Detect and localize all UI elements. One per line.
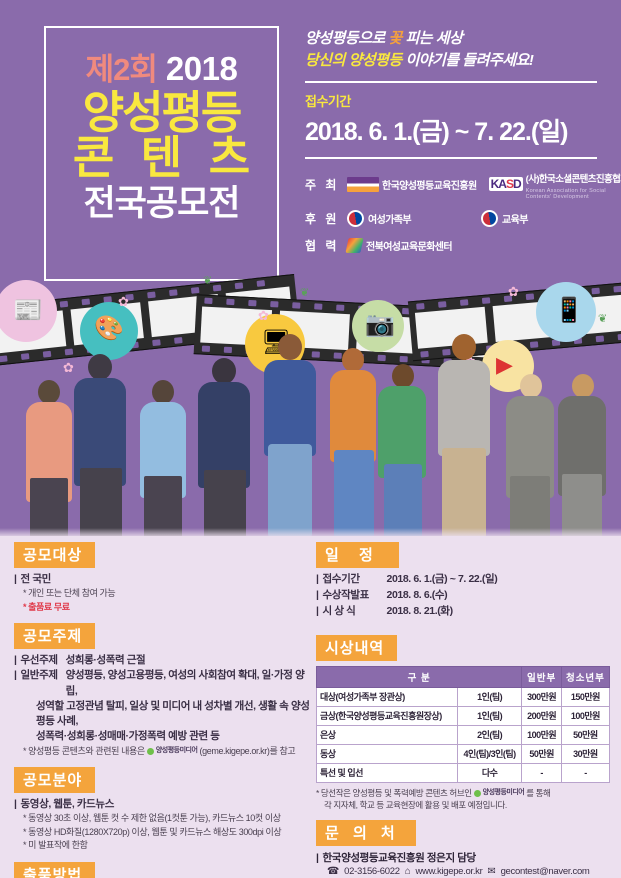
header-right-column: 양성평등으로 꽃 피는 세상 당신의 양성평등 이야기를 들려주세요! 접수기간…	[305, 28, 605, 264]
prize-youth-1: 100만원	[561, 706, 609, 725]
title-ordinal: 제2회	[86, 54, 157, 85]
prize-name-3: 동상	[317, 744, 458, 763]
prize-table: 구 분 일반부 청소년부 대상(여성가족부 장관상) 1인(팀) 300만원 1…	[316, 666, 610, 783]
bullet-bar-sch-1: |	[316, 572, 319, 587]
person-head-9	[520, 374, 542, 398]
leaf-icon-2: ❦	[300, 286, 309, 299]
right-column: 일 정 | 접수기간 2018. 6. 1.(금) ~ 7. 22.(일) | …	[316, 542, 612, 878]
organizer-item-kigepe: 한국양성평등교육진흥원	[347, 177, 477, 192]
title-box: 제2회 2018 양성평등 콘 텐 츠 전국공모전	[44, 26, 279, 281]
theme-row-general: | 일반주제 양성평등, 양성고용평등, 여성의 사회참여 확대, 일·가정 양…	[14, 668, 310, 698]
leaf-icon-3: ❦	[598, 312, 607, 325]
contact-org-1-name: 한국양성평등교육진흥원 정은지 담당	[323, 850, 476, 865]
theme-cont-2: 성폭력·성희롱·성매매·가정폭력 예방 관련 등	[14, 729, 310, 744]
section-theme: 공모주제 | 우선주제 성희롱·성폭력 근절 | 일반주제 양성평등, 양성고용…	[14, 623, 310, 758]
theme-note-prefix: 양성평등 콘텐츠와 관련된 내용은	[28, 746, 145, 756]
field-note-3: *미 발표작에 한함	[14, 839, 310, 853]
prize-general-0: 300만원	[522, 687, 561, 706]
prize-col-general: 일반부	[522, 666, 561, 687]
bullet-bar-field: |	[14, 797, 17, 812]
tagline-1a: 양성평등으로	[305, 30, 385, 47]
prize-name-0: 대상(여성가족부 장관상)	[317, 687, 458, 706]
person-head-3	[152, 380, 174, 404]
theme-value-general: 양성평등, 양성고용평등, 여성의 사회참여 확대, 일·가정 양립,	[66, 668, 310, 698]
reception-dates: 2018. 6. 1.(금) ~ 7. 22.(일)	[305, 112, 605, 148]
organizer-row-cooperation: 협 력 전북여성교육문화센터	[305, 237, 605, 254]
organizer-row-sponsor: 후 원 여성가족부 교육부	[305, 210, 605, 227]
organizer-label-cooperation: 협 력	[305, 237, 347, 254]
table-row: 은상 2인(팀) 100만원 50만원	[317, 725, 610, 744]
person-head-5	[278, 334, 302, 360]
prize-youth-3: 30만원	[561, 744, 609, 763]
schedule-row-ceremony: | 시 상 식 2018. 8. 21.(화)	[316, 604, 612, 619]
bullet-bar: |	[14, 572, 17, 587]
prize-general-2: 100만원	[522, 725, 561, 744]
newspaper-icon: 📰	[13, 299, 43, 323]
table-row: 대상(여성가족부 장관상) 1인(팀) 300만원 150만원	[317, 687, 610, 706]
field-note-2: *동영상 HD화질(1280X720p) 이상, 웹툰 및 카드뉴스 해상도 3…	[14, 826, 310, 840]
theme-row-priority: | 우선주제 성희롱·성폭력 근절	[14, 653, 310, 668]
poster-header: 제2회 2018 양성평등 콘 텐 츠 전국공모전 양성평등으로 꽃 피는 세상…	[0, 0, 621, 538]
table-row: 특선 및 입선 다수 - -	[317, 763, 610, 782]
target-note-2: *출품료 무료	[14, 601, 310, 615]
field-note-3-text: 미 발표작에 한함	[28, 840, 87, 850]
schedule-row-announcement: | 수상작발표 2018. 8. 6.(수)	[316, 588, 612, 603]
prize-youth-0: 150만원	[561, 687, 609, 706]
section-heading-submit: 출품방법	[14, 862, 95, 878]
email-icon-1: ✉	[487, 866, 495, 877]
prize-count-2: 2인(팀)	[457, 725, 522, 744]
asterisk-icon-9: *	[316, 788, 319, 798]
section-contact: 문 의 처 | 한국양성평등교육진흥원 정은지 담당 ☎ 02-3156-602…	[316, 820, 612, 878]
prize-count-0: 1인(팀)	[457, 687, 522, 706]
asterisk-icon-3: *	[23, 746, 26, 756]
prize-general-4: -	[522, 763, 561, 782]
tagline-2b: 양성평등	[349, 52, 402, 69]
blossom-icon-3: ✿	[63, 360, 74, 376]
prize-col-youth: 청소년부	[561, 666, 609, 687]
contact-site-1: www.kigepe.or.kr	[415, 866, 482, 877]
section-submit: 출품방법 | 출품작품과 출품신청서 공모전 이메일 통해 제출 *출품접수 공…	[14, 862, 310, 878]
target-note-2-text: 출품료 무료	[28, 602, 70, 612]
asterisk-icon-1: *	[23, 588, 26, 598]
prize-youth-2: 50만원	[561, 725, 609, 744]
person-legs-4	[204, 470, 246, 538]
geme-dot-icon-2	[474, 790, 481, 797]
target-item-label: 전 국민	[21, 572, 51, 587]
asterisk-icon-5: *	[23, 827, 26, 837]
tagline-2c: 이야기를 들려주세요!	[405, 52, 533, 69]
schedule-label-ceremony: 시 상 식	[323, 604, 379, 619]
prize-youth-4: -	[561, 763, 609, 782]
field-note-1-text: 동영상 30초 이상, 웹툰 컷 수 제한 없음(1컷툰 가능), 카드뉴스 1…	[28, 813, 281, 823]
person-head-6	[342, 348, 364, 372]
bullet-bar-c1: |	[316, 852, 319, 864]
target-item: | 전 국민	[14, 572, 310, 587]
person-legs-3	[144, 476, 182, 538]
person-head-10	[572, 374, 594, 398]
taeguk-emblem-icon	[347, 210, 364, 227]
prize-note-b: 를 통해	[526, 788, 550, 798]
person-head-8	[452, 334, 476, 360]
prize-table-body: 대상(여성가족부 장관상) 1인(팀) 300만원 150만원 금상(한국양성평…	[317, 687, 610, 782]
person-body-8	[438, 360, 490, 456]
asterisk-icon-4: *	[23, 813, 26, 823]
theme-value-priority: 성희롱·성폭력 근절	[66, 653, 146, 668]
person-legs-7	[384, 464, 422, 538]
organizer-item-jeonbuk: 전북여성교육문화센터	[347, 238, 452, 253]
bubble-palette: 🎨	[80, 302, 138, 360]
field-item-label: 동영상, 웹툰, 카드뉴스	[21, 797, 114, 812]
prize-general-3: 50만원	[522, 744, 561, 763]
section-heading-contact: 문 의 처	[316, 820, 416, 846]
organizer-name-mogef: 여성가족부	[368, 211, 411, 226]
bullet-bar-sch-2: |	[316, 588, 319, 603]
person-head-2	[88, 354, 112, 380]
leaf-icon-1: ❦	[203, 274, 212, 287]
phone-icon-1: ☎	[327, 866, 339, 877]
organizer-item-moe: 교육부	[481, 210, 528, 227]
illustration: 🎨 🖥 📰 📷 ▶ 📱 ✿ ✿ ✿ ✿ ✿ ❦ ❦ ❦	[0, 272, 621, 538]
geme-badge-2: 양성평등미디어	[474, 788, 525, 798]
organizer-name-jeonbuk: 전북여성교육문화센터	[366, 238, 452, 253]
contact-phone-1: 02-3156-6022	[344, 866, 400, 877]
organizer-name-moe: 교육부	[502, 211, 528, 226]
organizer-item-kasd: KASD (사)한국소셜콘텐츠진흥협회 Korean Association f…	[489, 169, 621, 200]
geme-badge-text-2: 양성평등미디어	[483, 788, 525, 798]
organizer-subtitle-kasd: Korean Association for Social Contents' …	[526, 188, 621, 200]
theme-label-general: 일반주제	[21, 668, 58, 698]
person-legs-10	[562, 474, 602, 538]
gender-equality-logo-icon	[347, 177, 379, 192]
blossom-icon-2: ✿	[258, 308, 269, 324]
asterisk-icon-6: *	[23, 840, 26, 850]
tagline-2a: 당신의	[305, 52, 345, 69]
section-heading-field: 공모분야	[14, 767, 95, 793]
person-head-1	[38, 380, 60, 404]
reception-label: 접수기간	[305, 91, 605, 110]
video-play-icon: ▶	[496, 354, 513, 376]
divider-top	[305, 81, 597, 83]
blossom-icon-1: ✿	[118, 294, 129, 310]
divider-bottom	[305, 157, 597, 159]
organizer-label-host: 주 최	[305, 176, 347, 193]
person-legs-1	[30, 478, 68, 538]
field-note-2-text: 동영상 HD화질(1280X720p) 이상, 웹툰 및 카드뉴스 해상도 30…	[28, 827, 281, 837]
theme-label-priority: 우선주제	[21, 653, 58, 668]
bullet-bar-sch-3: |	[316, 604, 319, 619]
theme-note-suffix: (geme.kigepe.or.kr)를 참고	[200, 746, 296, 756]
contact-org-1: | 한국양성평등교육진흥원 정은지 담당	[316, 850, 612, 865]
schedule-value-announcement: 2018. 8. 6.(수)	[387, 588, 448, 603]
tagline-line-2: 당신의 양성평등 이야기를 들려주세요!	[305, 50, 605, 72]
tagline-1c: 피는 세상	[405, 30, 462, 47]
contact-email-1: gecontest@naver.com	[501, 866, 590, 877]
contact-details-1: ☎ 02-3156-6022 ⌂ www.kigepe.or.kr ✉ geco…	[316, 866, 612, 877]
prize-count-3: 4인(팀)/3인(팀)	[457, 744, 522, 763]
prize-general-1: 200만원	[522, 706, 561, 725]
title-main-line2: 콘 텐 츠	[66, 134, 257, 181]
schedule-value-ceremony: 2018. 8. 21.(화)	[387, 604, 453, 619]
prize-name-1: 금상(한국양성평등교육진흥원장상)	[317, 706, 458, 725]
person-body-5	[264, 360, 316, 456]
section-heading-prizes: 시상내역	[316, 635, 397, 661]
section-field: 공모분야 | 동영상, 웹툰, 카드뉴스 *동영상 30초 이상, 웹툰 컷 수…	[14, 767, 310, 853]
reception-block: 접수기간 2018. 6. 1.(금) ~ 7. 22.(일)	[305, 91, 605, 148]
section-heading-theme: 공모주제	[14, 623, 95, 649]
prize-name-4: 특선 및 입선	[317, 763, 458, 782]
prize-note-c: 각 지자체, 학교 등 교육현장에 활용 및 배포 예정입니다.	[316, 799, 612, 811]
title-line-1: 제2회 2018	[86, 52, 238, 85]
geme-badge-text-1: 양성평등미디어	[156, 746, 198, 757]
person-legs-8	[442, 448, 486, 538]
organizer-item-mogef: 여성가족부	[347, 210, 411, 227]
camera-icon: 📷	[365, 313, 395, 337]
geme-dot-icon-1	[147, 748, 154, 755]
poster-root: 제2회 2018 양성평등 콘 텐 츠 전국공모전 양성평등으로 꽃 피는 세상…	[0, 0, 621, 878]
tagline: 양성평등으로 꽃 피는 세상 당신의 양성평등 이야기를 들려주세요!	[305, 28, 605, 72]
target-note-1: *개인 또는 단체 참여 가능	[14, 587, 310, 601]
organizer-label-sponsor: 후 원	[305, 210, 347, 227]
prize-col-division: 구 분	[317, 666, 522, 687]
palette-icon: 🎨	[94, 317, 124, 341]
table-row: 동상 4인(팀)/3인(팀) 50만원 30만원	[317, 744, 610, 763]
schedule-list: | 접수기간 2018. 6. 1.(금) ~ 7. 22.(일) | 수상작발…	[316, 572, 612, 620]
organizer-name-kigepe: 한국양성평등교육진흥원	[382, 177, 477, 192]
field-note-1: *동영상 30초 이상, 웹툰 컷 수 제한 없음(1컷툰 가능), 카드뉴스 …	[14, 812, 310, 826]
taeguk-emblem-icon-2	[481, 210, 498, 227]
prize-note: * 당선작은 양성평등 및 폭력예방 콘텐츠 허브인 양성평등미디어 를 통해 …	[316, 787, 612, 812]
prize-table-head: 구 분 일반부 청소년부	[317, 666, 610, 687]
section-heading-target: 공모대상	[14, 542, 95, 568]
graphics-tablet-icon: 📱	[554, 299, 584, 323]
field-item: | 동영상, 웹툰, 카드뉴스	[14, 797, 310, 812]
bullet-bar-theme-1: |	[14, 653, 17, 668]
schedule-label-reception: 접수기간	[323, 572, 379, 587]
jeonbuk-logo-icon	[345, 238, 363, 253]
left-column: 공모대상 | 전 국민 *개인 또는 단체 참여 가능 *출품료 무료 공모주제…	[14, 542, 310, 878]
organizer-name-kasd: (사)한국소셜콘텐츠진흥협회	[526, 174, 621, 185]
blossom-icon-5: ✿	[508, 284, 519, 300]
title-subtitle: 전국공모전	[83, 185, 239, 224]
person-legs-9	[510, 476, 550, 538]
schedule-label-announcement: 수상작발표	[323, 588, 379, 603]
person-head-7	[392, 364, 414, 388]
poster-body: 공모대상 | 전 국민 *개인 또는 단체 참여 가능 *출품료 무료 공모주제…	[0, 536, 621, 878]
kasd-logo-icon: KASD	[489, 177, 523, 191]
person-head-4	[212, 358, 236, 384]
title-main-line1: 양성평등	[83, 89, 241, 136]
prize-name-2: 은상	[317, 725, 458, 744]
organizer-row-host: 주 최 한국양성평등교육진흥원 KASD (사)한국소셜콘텐츠진흥협회 Kore…	[305, 169, 605, 200]
title-year: 2018	[166, 52, 237, 85]
bubble-graphics-tablet: 📱	[536, 282, 596, 342]
prize-note-a: 당선작은 양성평등 및 폭력예방 콘텐츠 허브인	[321, 788, 472, 798]
geme-badge-1: 양성평등미디어	[147, 746, 198, 757]
section-prizes: 시상내역 구 분 일반부 청소년부 대상(여성가족부 장관상) 1인(팀)	[316, 635, 612, 812]
prize-count-4: 다수	[457, 763, 522, 782]
bubble-camera: 📷	[352, 300, 404, 352]
person-body-6	[330, 370, 376, 462]
schedule-value-reception: 2018. 6. 1.(금) ~ 7. 22.(일)	[387, 572, 498, 587]
person-legs-5	[268, 444, 312, 538]
theme-note: *양성평등 콘텐츠와 관련된 내용은 양성평등미디어 (geme.kigepe.…	[14, 745, 310, 759]
schedule-row-reception: | 접수기간 2018. 6. 1.(금) ~ 7. 22.(일)	[316, 572, 612, 587]
prize-count-1: 1인(팀)	[457, 706, 522, 725]
prize-table-header-row: 구 분 일반부 청소년부	[317, 666, 610, 687]
section-schedule: 일 정 | 접수기간 2018. 6. 1.(금) ~ 7. 22.(일) | …	[316, 542, 612, 620]
person-legs-2	[80, 468, 122, 538]
table-row: 금상(한국양성평등교육진흥원장상) 1인(팀) 200만원 100만원	[317, 706, 610, 725]
bullet-bar-theme-2: |	[14, 668, 17, 698]
home-icon-1: ⌂	[405, 866, 411, 877]
theme-cont-1: 성역할 고정관념 탈피, 일상 및 미디어 내 성차별 개선, 생활 속 양성평…	[14, 699, 310, 729]
organizers-block: 주 최 한국양성평등교육진흥원 KASD (사)한국소셜콘텐츠진흥협회 Kore…	[305, 169, 605, 254]
person-legs-6	[334, 450, 374, 538]
asterisk-icon-2: *	[23, 602, 26, 612]
tagline-line-1: 양성평등으로 꽃 피는 세상	[305, 28, 605, 50]
tagline-1b: 꽃	[388, 30, 401, 47]
section-heading-schedule: 일 정	[316, 542, 399, 568]
target-note-1-text: 개인 또는 단체 참여 가능	[28, 588, 115, 598]
section-target: 공모대상 | 전 국민 *개인 또는 단체 참여 가능 *출품료 무료	[14, 542, 310, 614]
